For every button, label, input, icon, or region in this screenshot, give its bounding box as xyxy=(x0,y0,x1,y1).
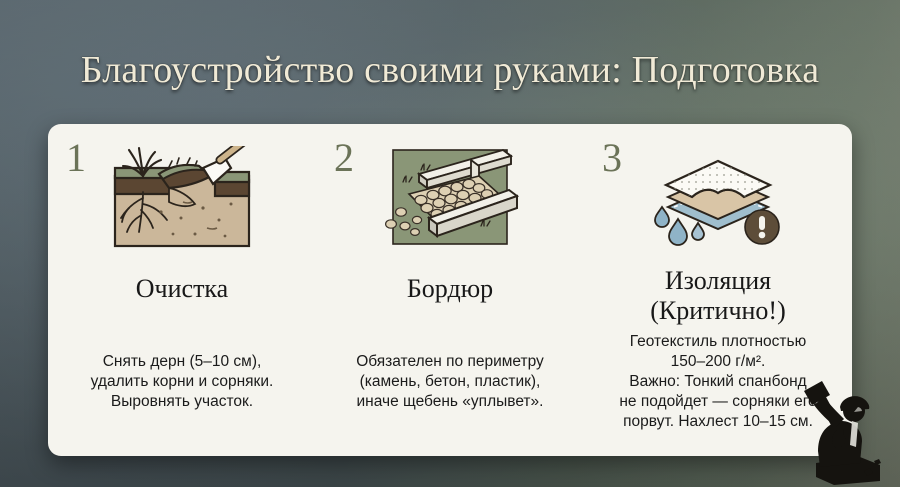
step-panel-border[interactable]: 2 xyxy=(316,124,584,456)
sod-removal-icon xyxy=(58,144,306,252)
panel-title-line2: (Критично!) xyxy=(650,296,786,326)
page-title: Благоустройство своими руками: Подготовк… xyxy=(0,48,900,92)
panel-title: Изоляция (Критично!) xyxy=(650,266,786,326)
step-number: 2 xyxy=(334,136,354,180)
panel-body: Обязателен по периметру (камень, бетон, … xyxy=(350,352,550,412)
panel-title: Бордюр xyxy=(407,274,493,304)
geotextile-layers-icon xyxy=(594,144,842,250)
panel-title: Очистка xyxy=(136,274,228,304)
stonemason-worker-icon xyxy=(794,377,886,487)
step-number: 1 xyxy=(66,136,86,180)
panel-body: Геотекстиль плотностью 150–200 г/м². Важ… xyxy=(613,332,822,432)
border-edging-icon xyxy=(326,144,574,252)
step-number: 3 xyxy=(602,136,622,180)
panel-title-line1: Изоляция xyxy=(665,266,771,295)
panel-body: Снять дерн (5–10 см), удалить корни и со… xyxy=(85,352,280,412)
steps-card: 1 xyxy=(48,124,852,456)
panel-title-line1: Бордюр xyxy=(407,274,493,303)
panel-title-line1: Очистка xyxy=(136,274,228,303)
step-panel-cleaning[interactable]: 1 xyxy=(48,124,316,456)
